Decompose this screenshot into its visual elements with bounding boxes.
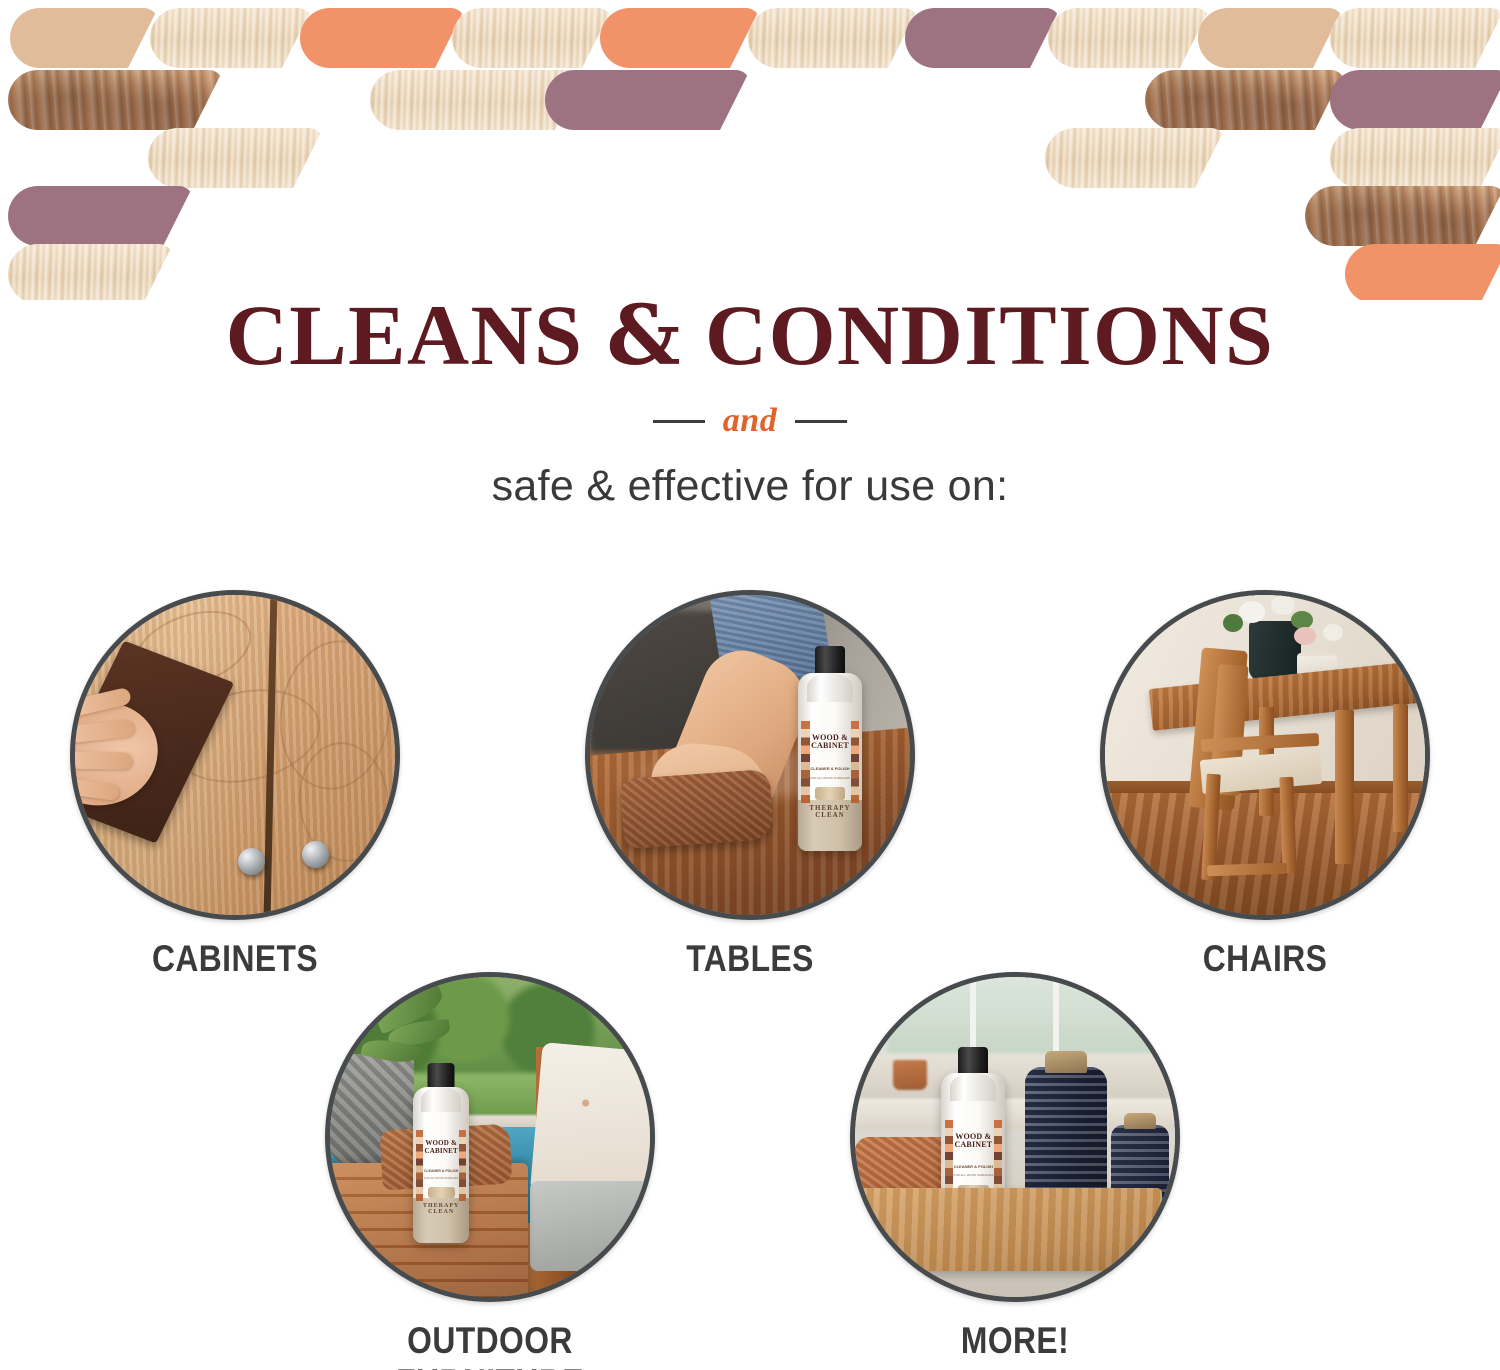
plank-ash (1330, 8, 1500, 68)
plank-tan (10, 8, 158, 68)
bottle-body: WOOD &CABINET CLEANER & POLISH FOR ALL W… (413, 1087, 469, 1243)
feature-image-more: WOOD &CABINET CLEANER & POLISH FOR ALL W… (850, 972, 1180, 1302)
rule-left (653, 420, 705, 423)
feature-chairs: CHAIRS (1100, 590, 1430, 980)
bottle-title: WOOD &CABINET (808, 734, 852, 751)
product-bottle: WOOD &CABINET CLEANER & POLISH FOR ALL W… (798, 646, 862, 851)
bottle-subtitle: CLEANER & POLISH (421, 1169, 461, 1173)
feature-tables: WOOD &CABINET CLEANER & POLISH FOR ALL W… (585, 590, 915, 980)
headline-block: CLEANS & CONDITIONS and safe & effective… (0, 292, 1500, 511)
plank-tan (1198, 8, 1343, 68)
bottle-shoulder (421, 1087, 461, 1112)
window-mullion (970, 977, 976, 1054)
grey-cushion (530, 1181, 650, 1271)
bottle-subtitle-2: FOR ALL WOOD SURFACES (807, 776, 853, 780)
ampersand-glyph: & (606, 288, 682, 384)
feature-image-chairs (1100, 590, 1430, 920)
feature-image-cabinets (70, 590, 400, 920)
wood-plank-pattern-band (0, 0, 1500, 300)
photo-cabinets (75, 595, 395, 915)
kitchen-window (887, 977, 1156, 1054)
headline-text-part1: CLEANS (226, 287, 607, 383)
finger (70, 751, 132, 769)
page-title: CLEANS & CONDITIONS (0, 292, 1500, 378)
feature-label-outdoor-furniture: OUTDOOR FURNITURE (348, 1320, 632, 1370)
plank-coral (300, 8, 465, 68)
photo-more: WOOD &CABINET CLEANER & POLISH FOR ALL W… (855, 977, 1175, 1297)
photo-tables: WOOD &CABINET CLEANER & POLISH FOR ALL W… (590, 595, 910, 915)
plank-ash (1330, 128, 1500, 188)
plank-ash (1045, 128, 1225, 188)
window-mullion (1053, 977, 1059, 1054)
bottle-subtitle-2: FOR ALL WOOD SURFACES (421, 1177, 461, 1180)
plank-coral (600, 8, 760, 68)
cabinet-knob (238, 848, 265, 875)
cleaning-cloth (620, 769, 775, 849)
plank-ash (748, 8, 918, 68)
table-leg (1335, 710, 1354, 864)
plank-mauve (905, 8, 1060, 68)
bottle-cap (815, 646, 845, 676)
plank-ash (1048, 8, 1210, 68)
bottle-label-chip (428, 1187, 455, 1198)
plank-walnut (8, 70, 223, 130)
feature-image-tables: WOOD &CABINET CLEANER & POLISH FOR ALL W… (585, 590, 915, 920)
feature-outdoor-furniture: WOOD &CABINET CLEANER & POLISH FOR ALL W… (325, 972, 655, 1370)
bottle-cap (428, 1063, 455, 1089)
bottle-subtitle: CLEANER & POLISH (950, 1164, 996, 1169)
bottle-subtitle-2: FOR ALL WOOD SURFACES (950, 1173, 996, 1177)
plank-mauve (1330, 70, 1500, 130)
bottle-shoulder (950, 1073, 996, 1101)
cabinet-knob (302, 841, 329, 868)
connector-word: and (723, 402, 777, 440)
bottle-label-chip (815, 787, 846, 799)
bottle-subtitle: CLEANER & POLISH (807, 766, 853, 771)
subtitle: safe & effective for use on: (0, 462, 1500, 511)
rule-right (795, 420, 847, 423)
photo-chairs (1105, 595, 1425, 915)
table-leg (1393, 704, 1408, 832)
bottle-title: WOOD &CABINET (422, 1140, 460, 1155)
photo-outdoor-furniture: WOOD &CABINET CLEANER & POLISH FOR ALL W… (330, 977, 650, 1297)
infographic-page: CLEANS & CONDITIONS and safe & effective… (0, 0, 1500, 1370)
plank-mauve (8, 186, 193, 246)
plank-walnut (1305, 186, 1500, 246)
headline-text-part2: CONDITIONS (682, 287, 1274, 383)
bottle-body: WOOD &CABINET CLEANER & POLISH FOR ALL W… (798, 673, 862, 851)
small-plant-pot (893, 1060, 927, 1090)
feature-label-more: MORE! (873, 1320, 1157, 1362)
patterned-pillow (530, 1042, 655, 1202)
feature-image-outdoor-furniture: WOOD &CABINET CLEANER & POLISH FOR ALL W… (325, 972, 655, 1302)
dark-vase (1249, 621, 1301, 681)
product-bottle: WOOD &CABINET CLEANER & POLISH FOR ALL W… (413, 1063, 469, 1243)
feature-more: WOOD &CABINET CLEANER & POLISH FOR ALL W… (850, 972, 1180, 1362)
plank-mauve (545, 70, 750, 130)
white-flower (1323, 624, 1343, 641)
vase-neck (1124, 1113, 1156, 1129)
bottle-brand: THERAPYCLEAN (420, 1203, 463, 1216)
pink-flower (1294, 627, 1316, 645)
connector-row: and (0, 402, 1500, 440)
plank-ash (148, 128, 323, 188)
vase-neck (1045, 1051, 1087, 1073)
wooden-tray (861, 1188, 1162, 1271)
bottle-shoulder (807, 673, 853, 701)
plank-walnut (1145, 70, 1345, 130)
bottle-title: WOOD &CABINET (952, 1133, 996, 1150)
bottle-brand: THERAPYCLEAN (806, 805, 855, 820)
plank-ash (150, 8, 312, 68)
plank-ash (452, 8, 612, 68)
feature-cabinets: CABINETS (70, 590, 400, 980)
